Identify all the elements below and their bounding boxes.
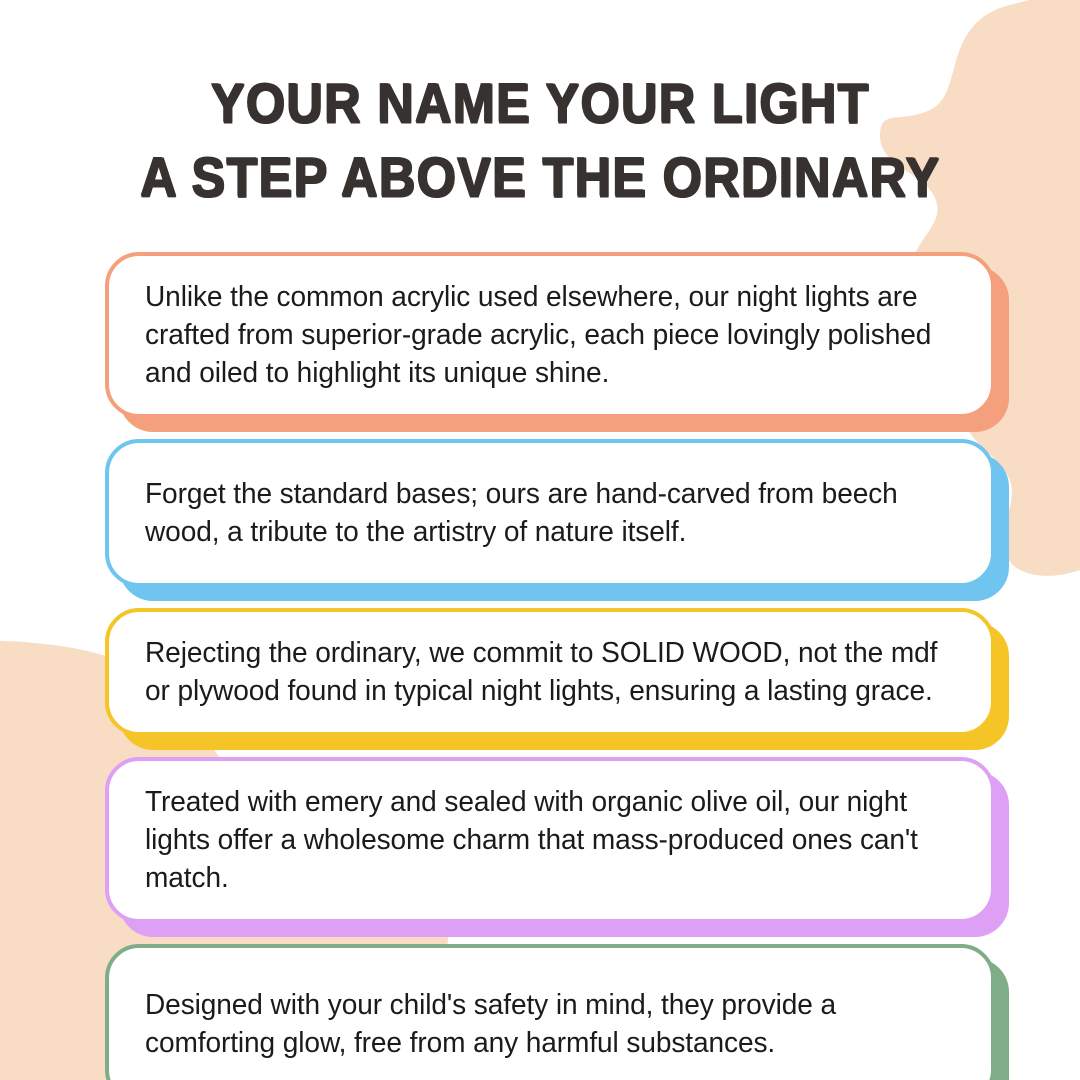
poster-canvas: YOUR NAME YOUR LIGHT A STEP ABOVE THE OR… (0, 0, 1080, 1080)
card-text: Unlike the common acrylic used elsewhere… (145, 278, 945, 392)
benefit-card-beech-wood[interactable]: Forget the standard bases; ours are hand… (105, 439, 995, 587)
benefit-card-solid-wood[interactable]: Rejecting the ordinary, we commit to SOL… (105, 608, 995, 736)
headline-line-1: YOUR NAME YOUR LIGHT (54, 66, 1026, 140)
card-body: Forget the standard bases; ours are hand… (105, 439, 995, 587)
benefit-card-list: Unlike the common acrylic used elsewhere… (105, 252, 995, 1080)
card-text: Designed with your child's safety in min… (145, 970, 945, 1078)
card-body: Rejecting the ordinary, we commit to SOL… (105, 608, 995, 736)
card-body: Designed with your child's safety in min… (105, 944, 995, 1080)
card-text: Forget the standard bases; ours are hand… (145, 465, 945, 561)
card-body: Treated with emery and sealed with organ… (105, 757, 995, 923)
page-title: YOUR NAME YOUR LIGHT A STEP ABOVE THE OR… (0, 66, 1080, 214)
card-text: Rejecting the ordinary, we commit to SOL… (145, 634, 945, 710)
card-text: Treated with emery and sealed with organ… (145, 783, 945, 897)
card-body: Unlike the common acrylic used elsewhere… (105, 252, 995, 418)
benefit-card-olive-oil[interactable]: Treated with emery and sealed with organ… (105, 757, 995, 923)
benefit-card-acrylic[interactable]: Unlike the common acrylic used elsewhere… (105, 252, 995, 418)
benefit-card-child-safety[interactable]: Designed with your child's safety in min… (105, 944, 995, 1080)
headline-line-2: A STEP ABOVE THE ORDINARY (54, 140, 1026, 214)
